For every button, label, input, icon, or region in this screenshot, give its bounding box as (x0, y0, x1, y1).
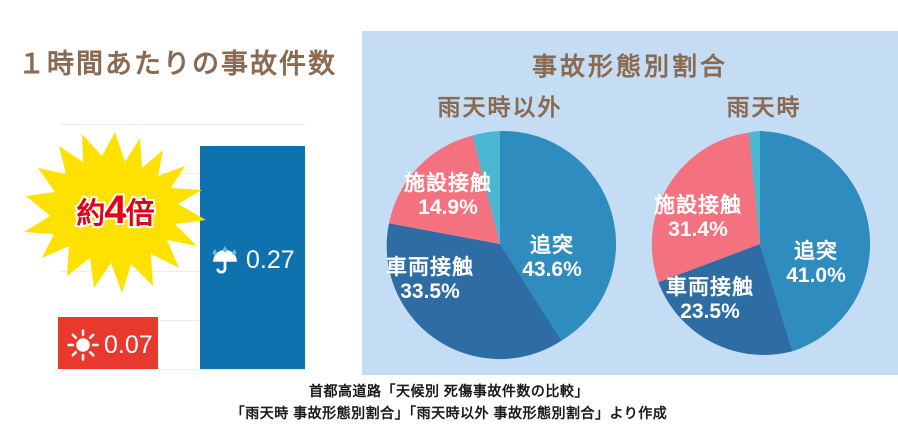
umbrella-rain-icon (208, 243, 242, 277)
pie-subtitle-non-rainy: 雨天時以外 (370, 88, 630, 122)
bar-rainy-content: 0.27 (208, 243, 295, 277)
citation-line-1: 首都高道路「天候別 死傷事故件数の比較」 (0, 381, 898, 403)
bar-rainy: 0.27 (200, 146, 305, 369)
bar-sunny-value: 0.07 (104, 331, 153, 360)
sun-icon (66, 328, 100, 362)
bar-rainy-value: 0.27 (246, 246, 295, 275)
bar-sunny: 0.07 (58, 317, 158, 369)
citation-line-2: 「雨天時 事故形態別割合」「雨天時以外 事故形態別割合」より作成 (0, 403, 898, 425)
pie-chart-non-rainy: 追突 43.6% 車両接触 33.5% 施設接触 14.9% (384, 128, 616, 360)
bar-sunny-content: 0.07 (66, 328, 153, 362)
gridline (60, 369, 305, 370)
accident-type-ratio-panel: 事故形態別割合 雨天時以外 雨天時 追突 43.6% 車両接触 33.5% 施設… (362, 31, 898, 375)
pie-subtitle-rainy: 雨天時 (634, 88, 894, 122)
source-citation: 首都高道路「天候別 死傷事故件数の比較」 「雨天時 事故形態別割合」「雨天時以外… (0, 381, 898, 424)
multiplier-suffix: 倍 (126, 198, 154, 230)
multiplier-callout: 約4倍 (22, 130, 208, 295)
multiplier-text: 約4倍 (22, 188, 208, 233)
pie-chart-rainy: 追突 41.0% 車両接触 23.5% 施設接触 31.4% (644, 128, 876, 360)
gridline (60, 124, 305, 125)
multiplier-prefix: 約 (76, 198, 104, 230)
accidents-per-hour-panel: １時間あたりの事故件数 (0, 0, 358, 380)
multiplier-number: 4 (104, 188, 125, 232)
pies-title: 事故形態別割合 (362, 47, 898, 83)
